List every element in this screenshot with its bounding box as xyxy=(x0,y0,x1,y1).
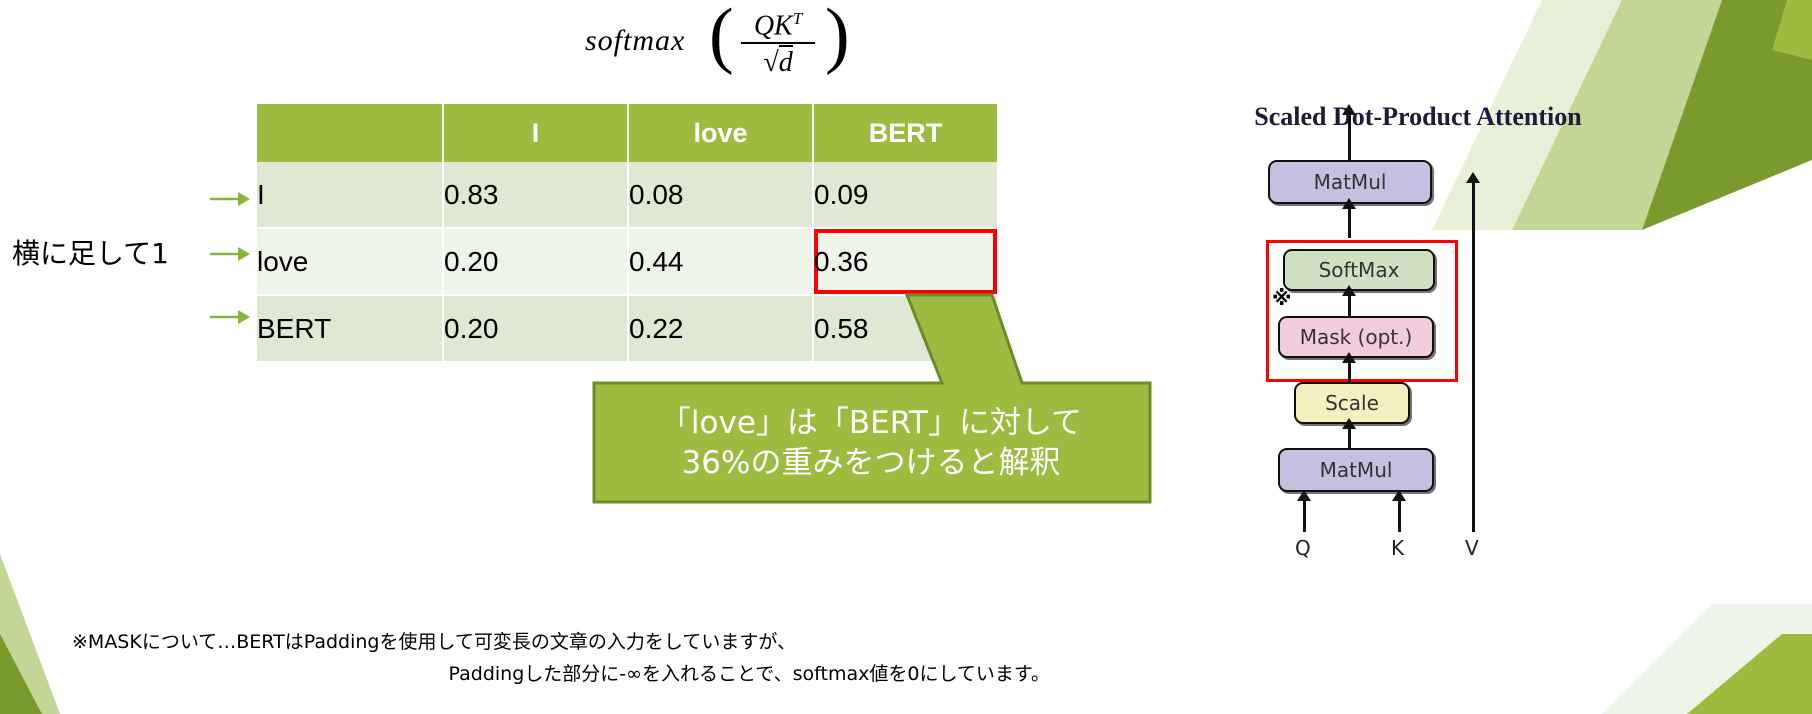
formula-function-name: softmax xyxy=(585,24,685,58)
callout-line-1: 「love」は「BERT」に対して xyxy=(660,403,1082,443)
input-q-arrow-line xyxy=(1303,496,1306,532)
table-row: I 0.83 0.08 0.09 xyxy=(257,162,997,228)
row-label-love: love xyxy=(257,228,443,295)
callout-text: 「love」は「BERT」に対して 36%の重みをつけると解釈 xyxy=(592,384,1150,502)
footnote-softmax-term: softmax xyxy=(793,663,870,685)
table-header-bert: BERT xyxy=(813,104,997,162)
formula-numerator: QKT xyxy=(737,4,819,41)
input-label-v: V xyxy=(1465,536,1479,560)
decor-bottom-right xyxy=(1482,594,1812,714)
mask-reference-marker: ※ xyxy=(1272,286,1291,310)
formula-denominator: √d xyxy=(737,45,819,79)
output-arrow-line xyxy=(1348,112,1351,160)
row-arrow-icon-love xyxy=(208,243,250,265)
mask-footnote: ※MASKについて…BERTはPaddingを使用して可変長の文章の入力をしてい… xyxy=(62,626,1072,690)
footnote-line-2: Paddingした部分に-∞を入れることで、softmax値を0にしています。 xyxy=(62,658,1072,690)
input-q-arrow-head-icon xyxy=(1297,490,1311,501)
row-arrow-icon-i xyxy=(208,188,250,210)
row-label-bert: BERT xyxy=(257,295,443,362)
arrow-mask-to-softmax-head-icon xyxy=(1342,285,1356,296)
row-arrow-icon-bert xyxy=(208,306,250,328)
row-sum-note: 横に足して1 xyxy=(12,232,169,272)
callout-line-2: 36%の重みをつけると解釈 xyxy=(682,443,1061,483)
input-label-q: Q xyxy=(1295,536,1311,560)
input-k-arrow-head-icon xyxy=(1392,490,1406,501)
table-header-corner xyxy=(257,104,443,162)
table-header-love: love xyxy=(628,104,813,162)
formula-paren-left: ( xyxy=(709,0,734,78)
node-label: Mask (opt.) xyxy=(1300,325,1413,349)
cell-i-love: 0.08 xyxy=(628,162,813,228)
input-label-k: K xyxy=(1391,536,1404,560)
arrow-matmul-to-scale-head-icon xyxy=(1342,418,1356,429)
row-label-i: I xyxy=(257,162,443,228)
output-arrow-head-icon xyxy=(1342,104,1356,115)
node-matmul-bottom: MatMul xyxy=(1278,448,1434,492)
scaled-dot-product-attention-diagram: Scaled Dot-Product Attention MatMul Soft… xyxy=(1186,92,1786,592)
cell-i-i: 0.83 xyxy=(443,162,628,228)
node-label: MatMul xyxy=(1314,170,1387,194)
table-header-i: I xyxy=(443,104,628,162)
node-label: MatMul xyxy=(1320,458,1393,482)
input-v-arrow-line xyxy=(1472,180,1475,532)
node-mask: Mask (opt.) xyxy=(1278,316,1434,358)
table-header-row: I love BERT xyxy=(257,104,997,162)
formula-fraction-bar xyxy=(741,42,815,44)
node-label: Scale xyxy=(1325,391,1379,415)
formula-fraction: QKT √d xyxy=(737,4,819,79)
arrow-softmax-to-matmul-line xyxy=(1348,204,1351,238)
formula-paren-right: ) xyxy=(825,0,850,78)
arrow-softmax-to-matmul-head-icon xyxy=(1342,198,1356,209)
footnote-line-2-c: 値を0にしています。 xyxy=(869,663,1050,685)
input-k-arrow-line xyxy=(1398,496,1401,532)
footnote-line-1: ※MASKについて…BERTはPaddingを使用して可変長の文章の入力をしてい… xyxy=(62,626,1072,658)
node-softmax: SoftMax xyxy=(1283,249,1435,291)
diagram-title: Scaled Dot-Product Attention xyxy=(1208,102,1628,132)
callout-bubble: 「love」は「BERT」に対して 36%の重みをつけると解釈 xyxy=(592,384,1150,502)
arrow-scale-to-mask-head-icon xyxy=(1342,352,1356,363)
input-v-arrow-head-icon xyxy=(1466,172,1480,183)
node-label: SoftMax xyxy=(1319,258,1400,282)
footnote-line-2-a: Paddingした部分に-∞を入れることで、 xyxy=(449,663,793,685)
cell-i-bert: 0.09 xyxy=(813,162,997,228)
softmax-formula: softmax ( QKT √d ) xyxy=(585,2,885,92)
